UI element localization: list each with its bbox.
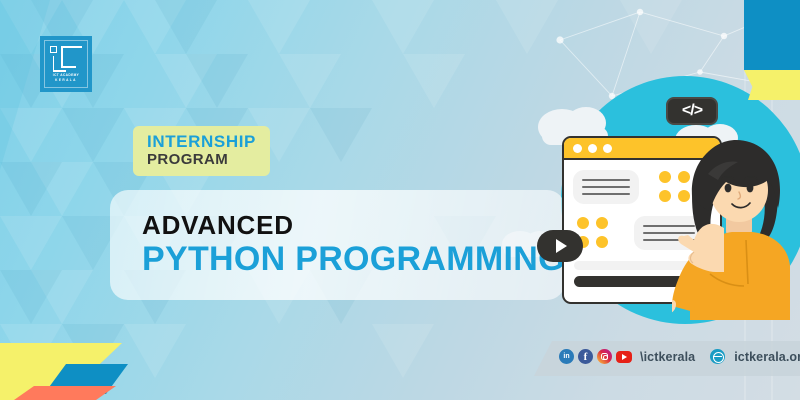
internship-program-banner: ICT ACADEMY KERALA INTERNSHIP PROGRAM AD… [0,0,800,400]
linkedin-icon[interactable]: in [559,349,574,364]
title-line-python-programming: PYTHON PROGRAMMING [142,241,565,278]
badge-internship-label: INTERNSHIP [147,133,256,151]
youtube-icon[interactable] [616,351,632,363]
content-block-text-1 [573,170,639,204]
logo-text-line1: ICT ACADEMY [53,74,79,77]
social-handle-text[interactable]: \ictkerala [640,350,695,364]
logo-mark-icon [50,46,82,72]
logo-inner-frame: ICT ACADEMY KERALA [44,40,88,88]
ict-academy-kerala-logo[interactable]: ICT ACADEMY KERALA [40,36,92,92]
code-tag-icon: </> [666,97,718,125]
title-line-advanced: ADVANCED [142,212,565,239]
website-url-text[interactable]: ictkerala.org [734,350,800,364]
badge-program-label: PROGRAM [147,152,256,169]
page-title: ADVANCED PYTHON PROGRAMMING [142,212,565,278]
pointing-hand-icon [678,222,724,279]
instagram-icon[interactable] [597,349,612,364]
social-links-bar: in f \ictkerala ictkerala.org [559,349,800,364]
play-button-icon[interactable] [537,230,583,262]
browser-dot-1 [573,144,582,153]
browser-dot-3 [603,144,612,153]
browser-dot-2 [588,144,597,153]
internship-program-badge: INTERNSHIP PROGRAM [133,126,270,176]
facebook-icon[interactable]: f [578,349,593,364]
logo-text-line2: KERALA [55,79,77,82]
globe-icon[interactable] [710,349,725,364]
